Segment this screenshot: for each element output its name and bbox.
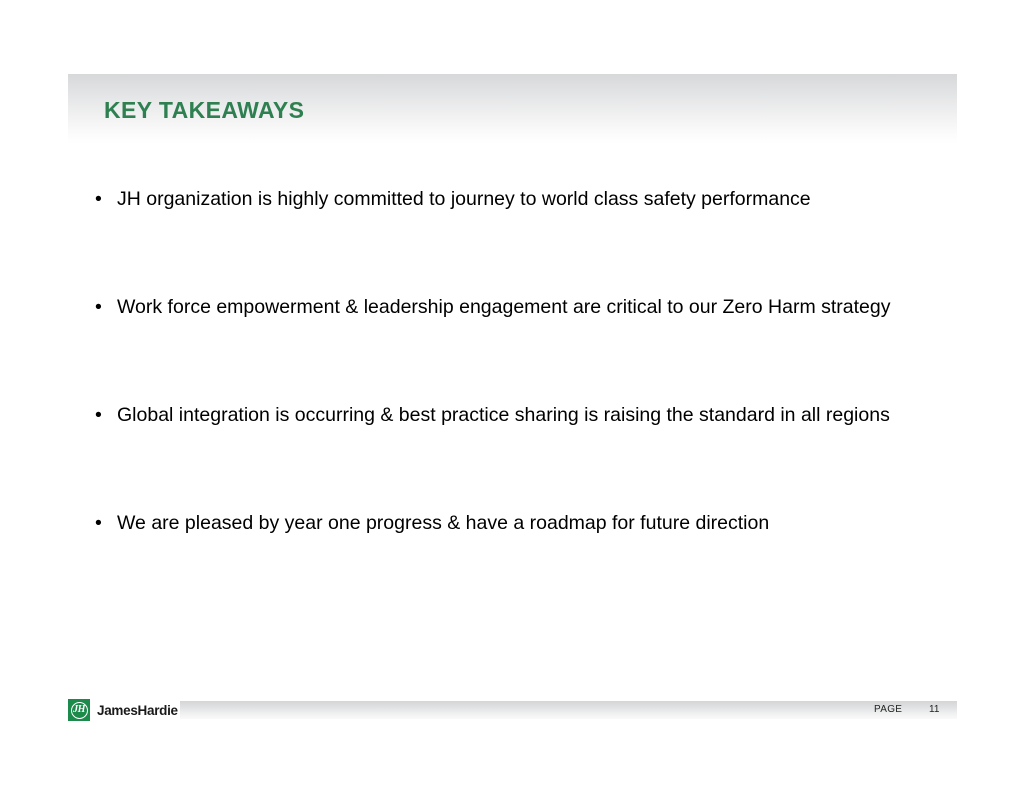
brand-logo: JH JamesHardie [68,698,178,722]
page-label: PAGE [874,704,902,715]
bullet-list: • JH organization is highly committed to… [92,186,972,536]
list-item-text: Work force empowerment & leadership enga… [117,294,895,320]
logo-wordmark: JamesHardie [97,703,178,718]
slide-canvas: KEY TAKEAWAYS • JH organization is highl… [0,0,1024,791]
list-item: • Global integration is occurring & best… [92,402,972,428]
bullet-marker-icon: • [95,510,102,536]
page-title: KEY TAKEAWAYS [104,97,304,124]
page-number: 11 [929,704,939,715]
list-item-text: We are pleased by year one progress & ha… [117,510,972,536]
bullet-marker-icon: • [95,186,102,212]
list-item: • JH organization is highly committed to… [92,186,972,212]
bullet-marker-icon: • [95,294,102,320]
james-hardie-logo-icon: JH [68,699,90,721]
list-item-text: JH organization is highly committed to j… [117,186,972,212]
list-item: • Work force empowerment & leadership en… [92,294,972,320]
logo-monogram: JH [68,699,90,721]
list-item-text: Global integration is occurring & best p… [117,402,909,428]
footer-bar [180,701,957,719]
bullet-marker-icon: • [95,402,102,428]
list-item: • We are pleased by year one progress & … [92,510,972,536]
